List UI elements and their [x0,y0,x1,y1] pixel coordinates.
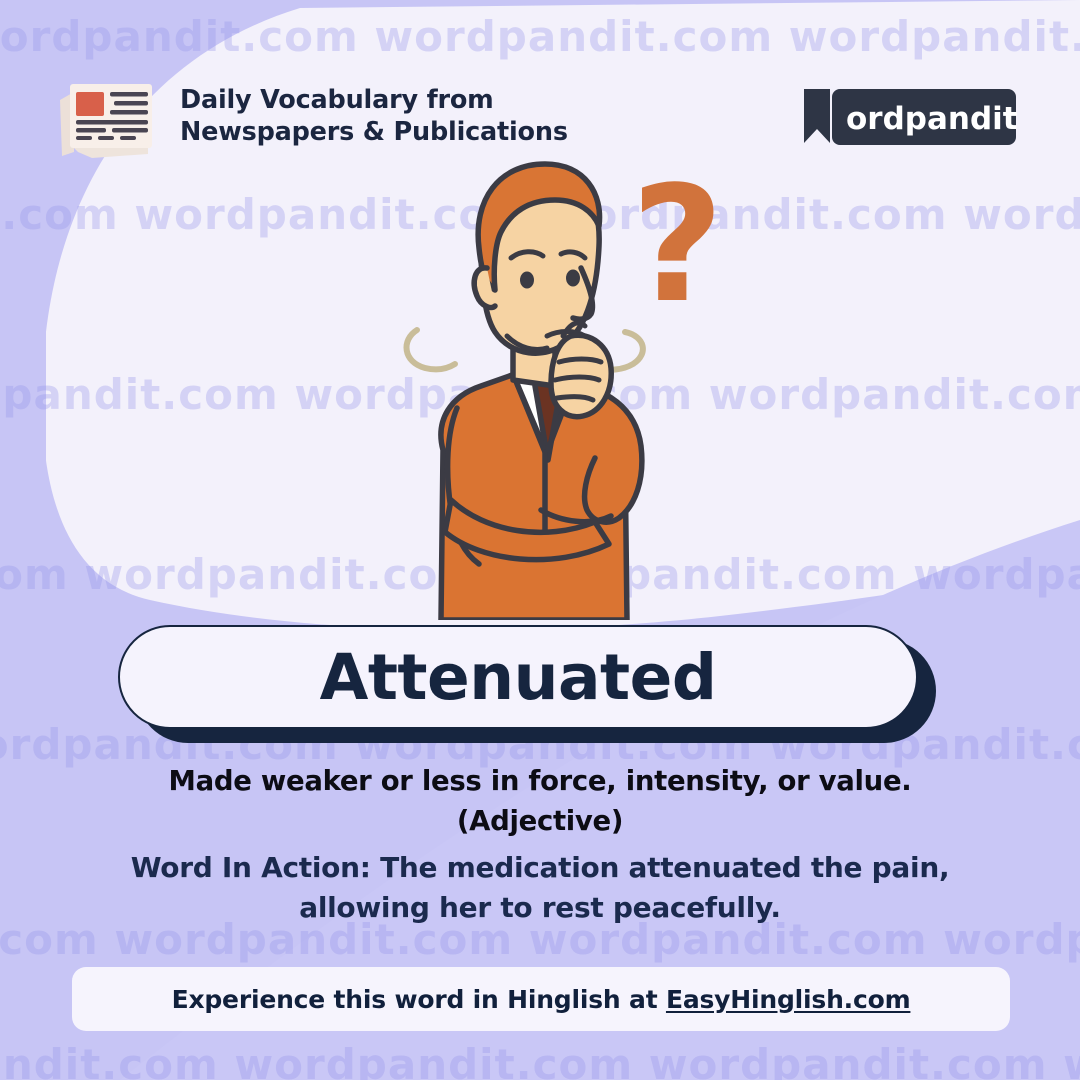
definition-part-of-speech: (Adjective) [90,802,990,842]
footer-text: Experience this word in Hinglish at Easy… [172,985,911,1014]
footer-bar: Experience this word in Hinglish at Easy… [72,967,1010,1031]
header-title: Daily Vocabulary from Newspapers & Publi… [180,84,568,148]
easyhinglish-link[interactable]: EasyHinglish.com [666,985,910,1014]
word-in-action-line1: Word In Action: The medication attenuate… [70,848,1010,888]
logo-text: ordpandit [846,101,1018,137]
header-title-line2: Newspapers & Publications [180,116,568,148]
word-in-action-block: Word In Action: The medication attenuate… [70,848,1010,929]
word-in-action-line2: allowing her to rest peacefully. [70,888,1010,928]
newspaper-icon [52,70,162,162]
svg-text:?: ? [631,151,724,338]
word-title: Attenuated [320,646,717,709]
header-title-line1: Daily Vocabulary from [180,84,568,116]
wordpandit-logo[interactable]: ordpandit [798,85,1020,149]
word-card: Attenuated [118,625,918,733]
header: Daily Vocabulary from Newspapers & Publi… [52,70,568,162]
definition-meaning: Made weaker or less in force, intensity,… [90,762,990,802]
definition-block: Made weaker or less in force, intensity,… [90,762,990,841]
thinking-man-illustration: ? [395,150,725,620]
footer-prefix: Experience this word in Hinglish at [172,985,666,1014]
word-card-body: Attenuated [118,625,918,729]
question-mark-icon: ? [631,151,724,338]
